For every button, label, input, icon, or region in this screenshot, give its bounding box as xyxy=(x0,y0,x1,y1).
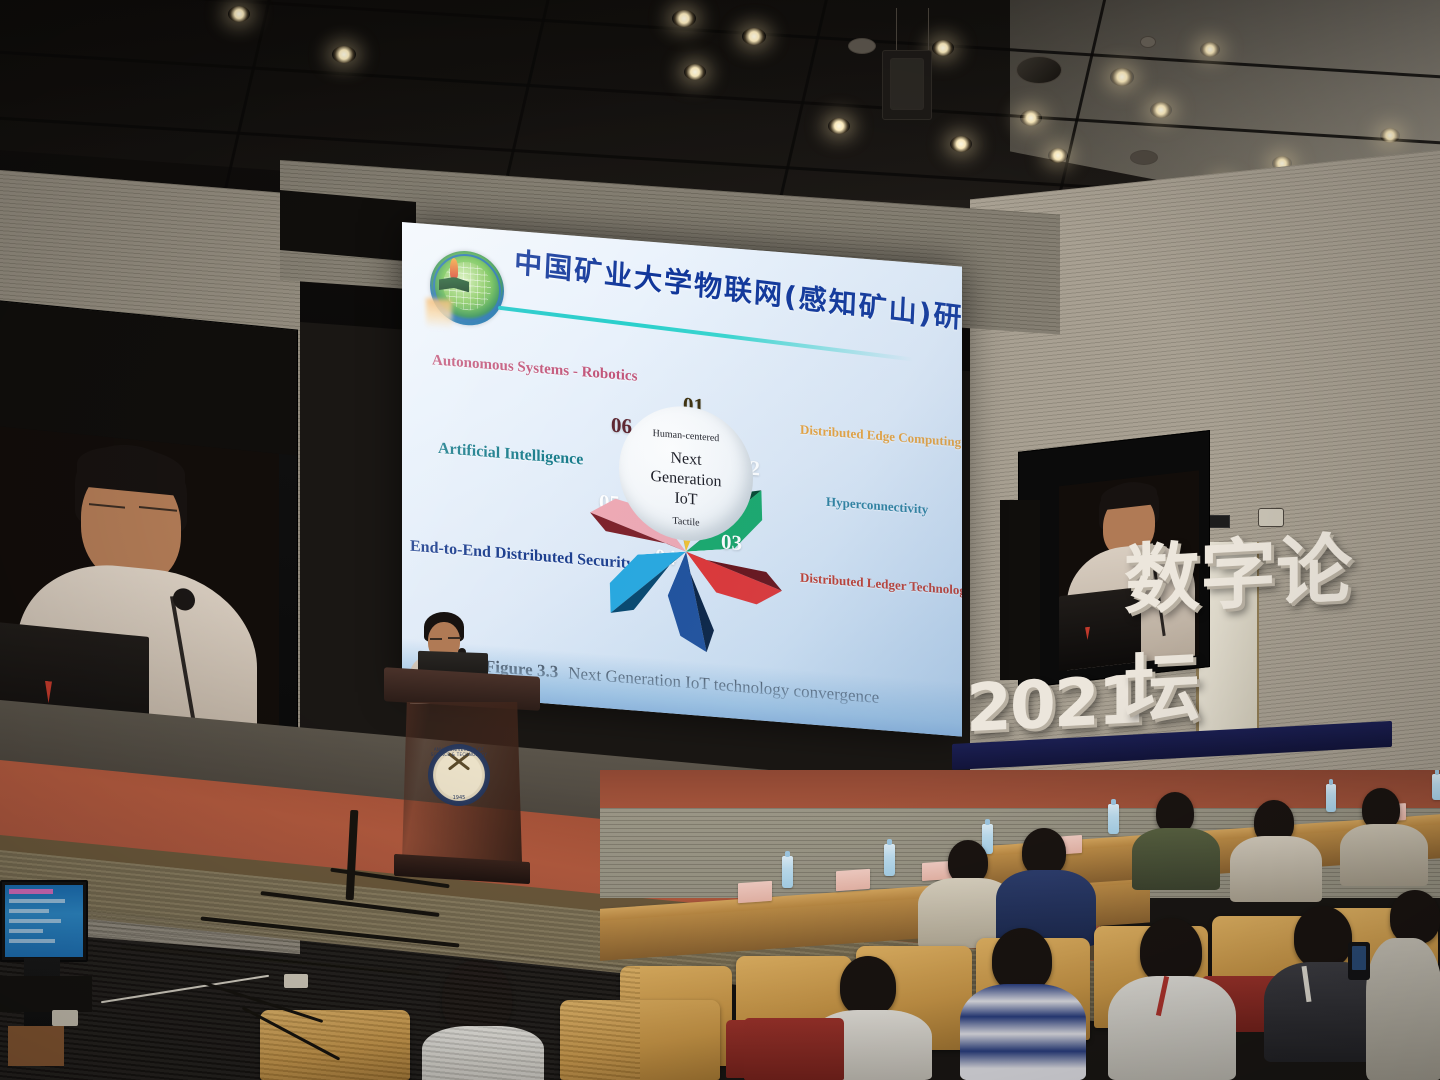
donut-chart: 010203040506 Human-centered Next Generat… xyxy=(587,367,785,581)
water-bottle xyxy=(884,844,895,876)
seal-text: ANHUI UNIVERSITY OF SCIENCE & TECHNOLOGY xyxy=(428,747,490,757)
audience-head xyxy=(840,956,896,1016)
monitor-screen xyxy=(5,885,83,957)
downlight xyxy=(1150,102,1172,118)
seal-year: 1945 xyxy=(428,795,490,801)
control-station xyxy=(0,880,120,1080)
led-top-frame xyxy=(280,190,416,262)
led-support-frame xyxy=(1000,500,1040,680)
audience-body xyxy=(1230,836,1322,902)
stage-edge-far xyxy=(600,770,1440,810)
conference-hall-photo: 中国矿业大学物联网(感知矿山)研究中心 Autonomous Systems -… xyxy=(0,0,1440,1080)
diagram-label: Distributed Edge Computing xyxy=(800,422,961,451)
downlight xyxy=(1200,42,1220,57)
audience-head xyxy=(992,928,1052,992)
downlight xyxy=(684,64,706,80)
downlight xyxy=(1020,110,1042,126)
ceiling-sprinkler xyxy=(1140,36,1156,48)
sign-year-text: 2021 xyxy=(966,661,1142,747)
cardboard-box xyxy=(8,1026,64,1066)
rigging-wire xyxy=(928,8,929,50)
audience-body xyxy=(1340,824,1428,886)
downlight xyxy=(828,118,850,134)
audience-head xyxy=(1022,828,1066,876)
audience-head xyxy=(1140,918,1202,984)
audience-body xyxy=(1132,828,1220,890)
rigging-wire xyxy=(896,8,897,50)
control-monitor xyxy=(0,880,88,962)
water-bottle xyxy=(1108,804,1119,834)
university-seal-icon: ANHUI UNIVERSITY OF SCIENCE & TECHNOLOGY… xyxy=(428,744,490,806)
ceiling-speaker xyxy=(1016,56,1062,84)
water-bottle xyxy=(1432,774,1440,800)
audience-body xyxy=(1108,976,1236,1080)
downlight xyxy=(672,10,696,27)
downlight xyxy=(1380,128,1400,143)
downlight xyxy=(932,40,954,56)
downlight xyxy=(1110,68,1134,86)
downlight xyxy=(332,46,356,63)
downlight xyxy=(228,6,250,22)
diagram-label: Hyperconnectivity xyxy=(826,494,928,518)
name-card xyxy=(738,881,772,903)
audience-area xyxy=(600,770,1440,1080)
sign-chinese-text: 数字论坛 xyxy=(1124,503,1422,739)
petal-group: 010203040506 xyxy=(587,367,785,383)
diagram-label: Artificial Intelligence xyxy=(438,440,583,470)
audience-head xyxy=(1390,890,1440,944)
downlight xyxy=(742,28,766,45)
downlight xyxy=(950,136,972,152)
ceiling-light-fixture xyxy=(848,38,876,54)
audience-body xyxy=(1366,938,1440,1080)
audience-body xyxy=(960,984,1086,1080)
diagram-label: Distributed Ledger Technology xyxy=(800,570,962,600)
projector-lens-housing xyxy=(890,58,924,110)
podium: ANHUI UNIVERSITY OF SCIENCE & TECHNOLOGY… xyxy=(392,672,532,887)
smartphone-screen xyxy=(1352,946,1366,970)
water-bottle xyxy=(782,856,793,888)
water-bottle xyxy=(1326,784,1336,812)
logo-glow xyxy=(426,298,452,330)
seat-cushion xyxy=(744,1018,844,1080)
name-card xyxy=(836,869,870,891)
downlight xyxy=(1048,148,1068,163)
audience-head xyxy=(1294,906,1352,968)
wall-outlet xyxy=(284,974,308,988)
wall-outlet xyxy=(52,1010,78,1026)
ceiling-light-fixture xyxy=(1130,150,1158,165)
equipment-rack xyxy=(0,976,92,1012)
